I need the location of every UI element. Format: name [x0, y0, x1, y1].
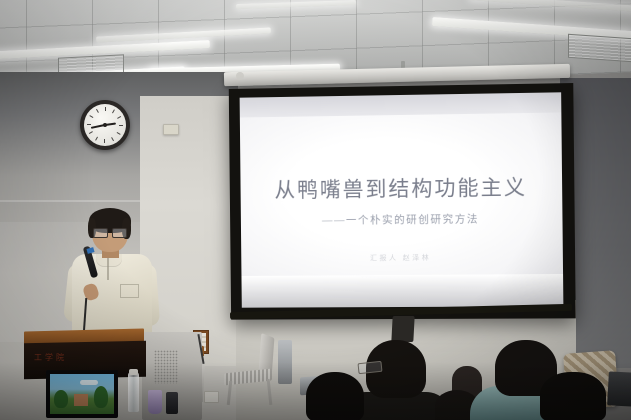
microphone-band — [86, 247, 94, 254]
presenter-shirt-pocket — [120, 284, 139, 298]
podium-confidence-monitor — [46, 370, 118, 418]
presenter-placket — [107, 258, 109, 280]
clock-face — [84, 104, 126, 146]
audience-monitor — [278, 340, 292, 384]
ceiling-air-vent — [568, 34, 631, 62]
wall-power-outlet — [204, 391, 219, 403]
lectern-front-text: 工学院 — [34, 352, 67, 363]
wallpaper-building — [74, 394, 88, 406]
slide-title: 从鸭嘴兽到结构功能主义 — [240, 171, 562, 205]
speaker-grille-icon — [154, 350, 178, 384]
audience-member-head — [306, 372, 364, 420]
bottle-cap — [129, 369, 138, 375]
screen-support — [391, 316, 414, 342]
purple-cup — [148, 390, 162, 414]
water-bottle — [128, 372, 139, 412]
presenter — [62, 212, 167, 342]
wall-mounted-box — [163, 124, 179, 135]
dark-cup — [166, 392, 178, 414]
screen-roller-cap-icon — [236, 72, 244, 80]
slide-subtitle: ——一个朴实的研创研究方法 — [241, 210, 563, 228]
glasses-icon — [93, 228, 127, 236]
screen-bottom-band — [241, 274, 563, 308]
wallpaper-tree — [54, 390, 68, 408]
clock-center-pin — [103, 123, 107, 127]
wall-clock — [80, 100, 130, 150]
classroom-photo: 从鸭嘴兽到结构功能主义 ——一个朴实的研创研究方法 汇报人 赵泽林 — [0, 0, 631, 420]
wallpaper-cloud — [80, 380, 98, 385]
wallpaper-tree — [94, 386, 108, 408]
screen-surface: 从鸭嘴兽到结构功能主义 ——一个朴实的研创研究方法 汇报人 赵泽林 — [240, 92, 564, 307]
projection-screen: 从鸭嘴兽到结构功能主义 ——一个朴实的研创研究方法 汇报人 赵泽林 — [229, 83, 576, 320]
open-laptop — [607, 371, 631, 406]
monitor-screen — [50, 374, 114, 414]
audience-member-head — [540, 372, 606, 420]
chair-leg — [267, 379, 272, 405]
